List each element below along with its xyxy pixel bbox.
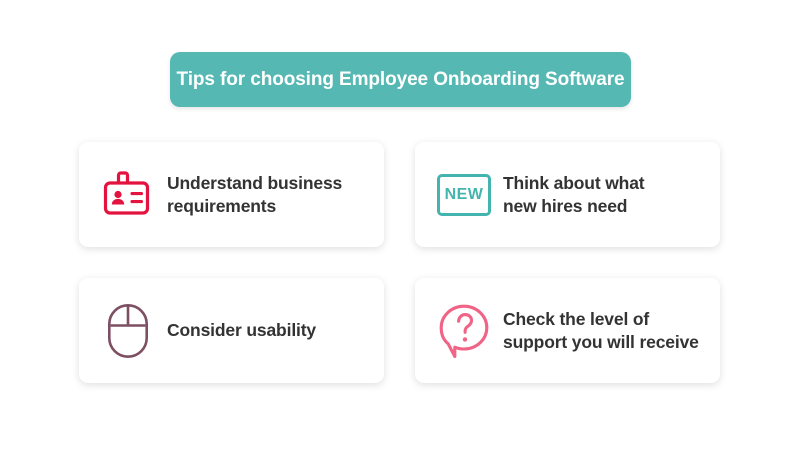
id-badge-icon [97, 164, 159, 226]
tip-card-label: Consider usability [167, 319, 316, 341]
tip-card-label-line2: support you will receive [503, 331, 699, 353]
new-label-icon: NEW [433, 164, 495, 226]
tip-card-label: Think about what new hires need [503, 172, 644, 217]
tip-card-label-line1: Think about what [503, 172, 644, 194]
tip-card-check-support-level: Check the level of support you will rece… [415, 278, 720, 383]
tip-card-label-line1: Consider usability [167, 319, 316, 341]
tip-card-label-line2: requirements [167, 195, 342, 217]
page-title: Tips for choosing Employee Onboarding So… [177, 69, 625, 91]
tip-card-think-about-new-hires: NEW Think about what new hires need [415, 142, 720, 247]
tip-card-label: Understand business requirements [167, 172, 342, 217]
new-label-icon-box: NEW [437, 174, 491, 216]
tip-card-label: Check the level of support you will rece… [503, 308, 699, 353]
tip-card-consider-usability: Consider usability [79, 278, 384, 383]
header-banner: Tips for choosing Employee Onboarding So… [170, 52, 631, 107]
tip-card-label-line1: Check the level of [503, 308, 699, 330]
tip-card-understand-business-requirements: Understand business requirements [79, 142, 384, 247]
computer-mouse-icon [97, 300, 159, 362]
infographic-root: Tips for choosing Employee Onboarding So… [0, 0, 800, 450]
tip-card-label-line2: new hires need [503, 195, 644, 217]
question-speech-bubble-icon [433, 300, 495, 362]
new-label-icon-text: NEW [445, 187, 484, 203]
tip-card-label-line1: Understand business [167, 172, 342, 194]
